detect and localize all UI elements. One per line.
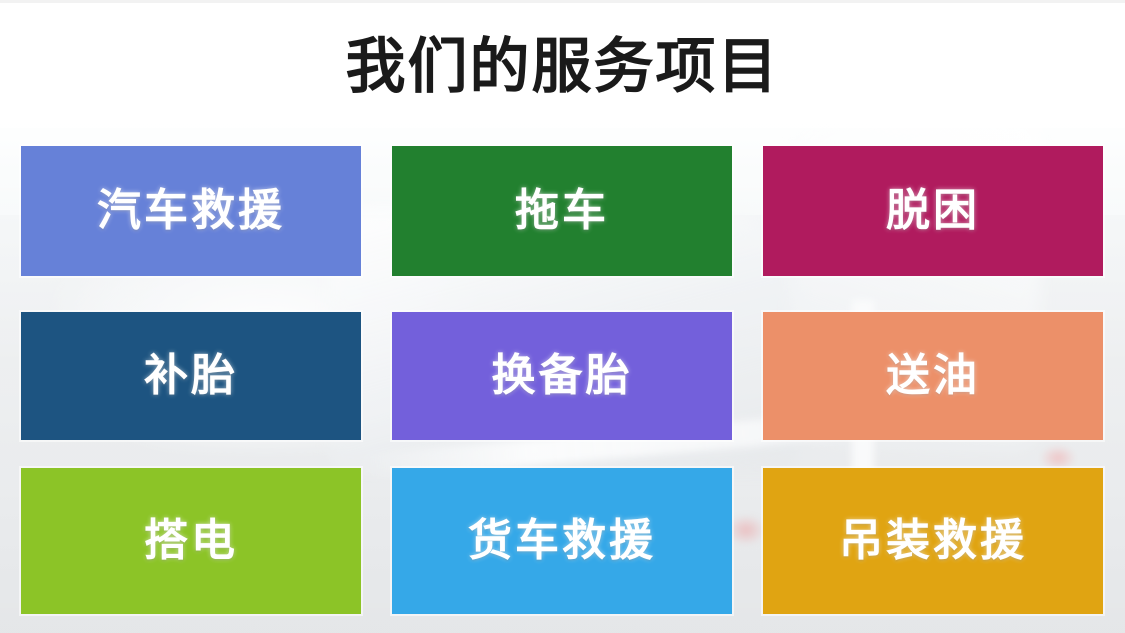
service-tile-label: 汽车救援 <box>97 189 285 233</box>
service-tile-fuel-delivery[interactable]: 送油 <box>763 312 1103 440</box>
service-tile-label: 拖车 <box>515 189 609 233</box>
service-tile-crane-hoist-rescue[interactable]: 吊装救援 <box>763 468 1103 614</box>
service-tile-extrication[interactable]: 脱困 <box>763 146 1103 276</box>
service-tile-label: 换备胎 <box>492 354 633 398</box>
service-tile-label: 补胎 <box>144 354 238 398</box>
service-tile-tow-truck[interactable]: 拖车 <box>392 146 732 276</box>
service-tile-jump-start[interactable]: 搭电 <box>21 468 361 614</box>
service-tile-grid: 汽车救援 拖车 脱困 补胎 换备胎 送油 搭电 货车救援 吊装救援 <box>21 146 1104 616</box>
top-divider <box>0 0 1125 3</box>
header: 我们的服务项目 <box>0 0 1125 128</box>
service-tile-label: 搭电 <box>144 519 238 563</box>
service-tile-label: 吊装救援 <box>839 519 1027 563</box>
service-poster: 我们的服务项目 汽车救援 拖车 脱困 补胎 换备胎 送油 搭电 货车救援 吊装救… <box>0 0 1125 633</box>
service-tile-tire-repair[interactable]: 补胎 <box>21 312 361 440</box>
service-tile-car-rescue[interactable]: 汽车救援 <box>21 146 361 276</box>
service-tile-truck-rescue[interactable]: 货车救援 <box>392 468 732 614</box>
service-tile-label: 送油 <box>886 354 980 398</box>
page-title: 我们的服务项目 <box>346 31 780 97</box>
service-tile-label: 脱困 <box>886 189 980 233</box>
service-tile-spare-tire-change[interactable]: 换备胎 <box>392 312 732 440</box>
service-tile-label: 货车救援 <box>468 519 656 563</box>
